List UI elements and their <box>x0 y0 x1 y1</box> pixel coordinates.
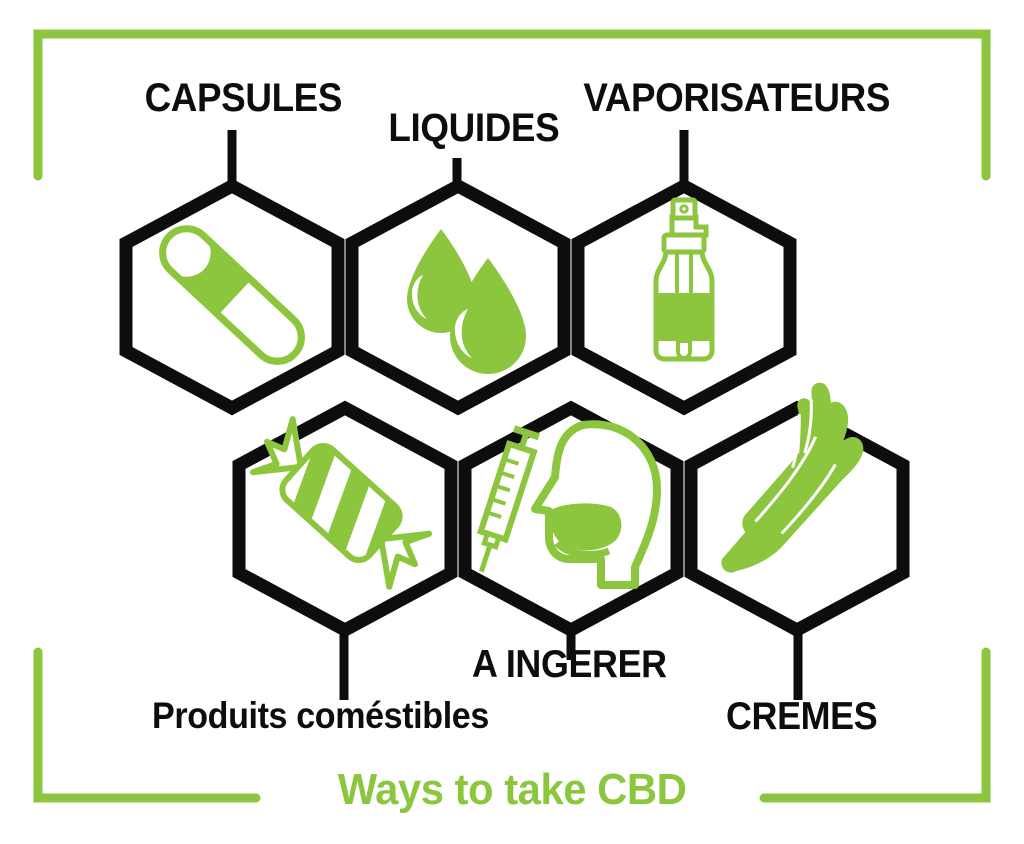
label-vaporisateurs: VAPORISATEURS <box>583 78 890 118</box>
label-cremes: CREMES <box>726 697 877 736</box>
page-title: Ways to take CBD <box>26 768 999 812</box>
label-produits-comestibles: Produits coméstibles <box>152 697 489 734</box>
label-a-ingerer: A INGERER <box>472 645 667 684</box>
head-syringe-icon <box>469 424 657 585</box>
capsule-icon <box>153 219 312 371</box>
cbd-infographic: CAPSULES LIQUIDES VAPORISATEURS Produits… <box>0 0 1024 844</box>
hands-cream-icon <box>666 377 891 581</box>
spray-bottle-icon <box>656 200 712 359</box>
label-capsules: CAPSULES <box>145 78 342 118</box>
label-liquides: LIQUIDES <box>388 108 559 148</box>
droplets-icon <box>407 229 526 374</box>
candy-icon <box>240 409 439 600</box>
